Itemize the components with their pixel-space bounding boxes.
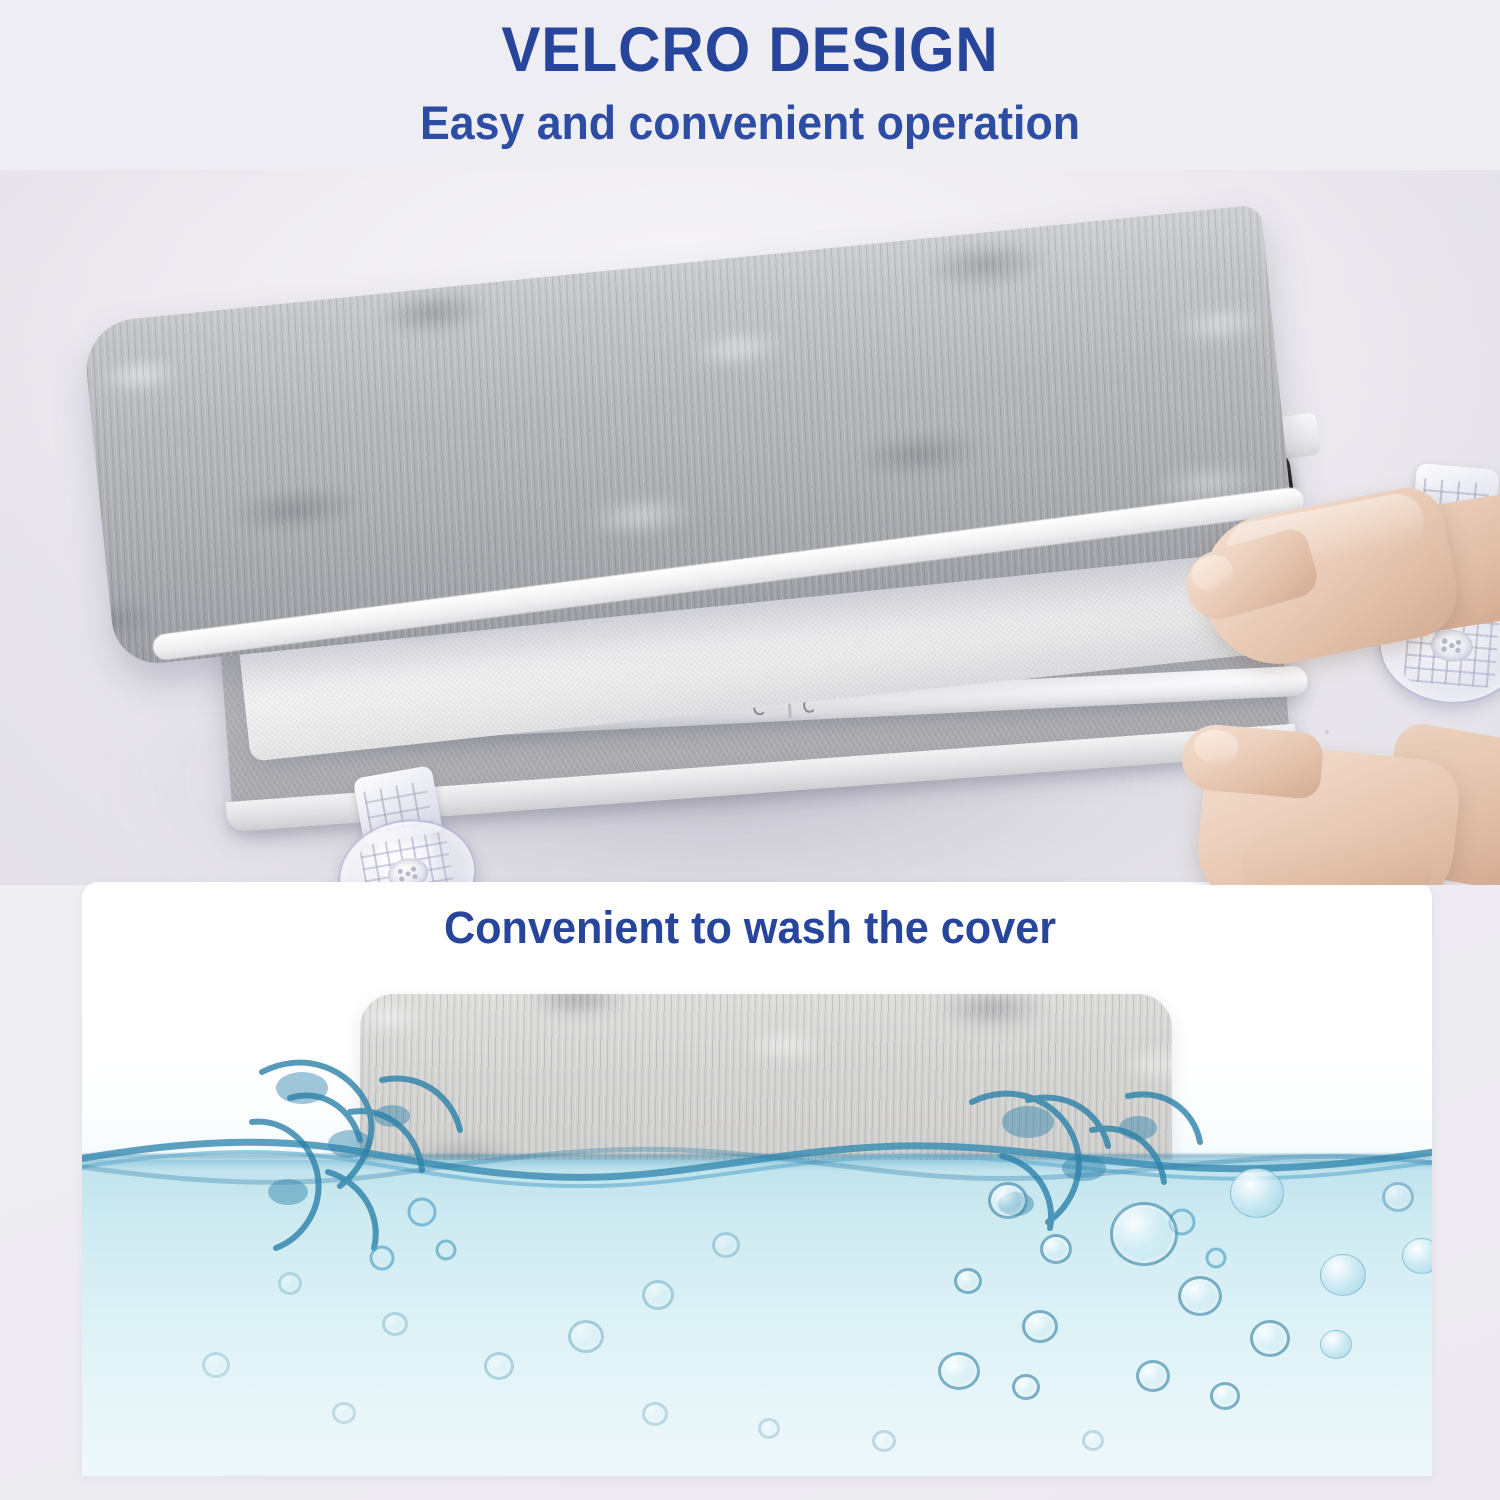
page-subtitle: Easy and convenient operation (38, 98, 1463, 147)
bubble-icon (1040, 1234, 1072, 1264)
bubble-icon (1230, 1168, 1284, 1218)
bubble-icon (1012, 1374, 1040, 1400)
bubble-icon (382, 1312, 408, 1336)
bubble-icon (1110, 1202, 1178, 1266)
suction-disc (329, 808, 485, 885)
bubble-icon (568, 1320, 604, 1353)
bubble-icon (1082, 1430, 1104, 1451)
bubble-icon (1320, 1330, 1352, 1359)
bubble-icon (642, 1280, 674, 1310)
header: VELCRO DESIGN Easy and convenient operat… (0, 18, 1500, 148)
wash-demo-photo (82, 882, 1432, 1476)
bubble-icon (202, 1352, 230, 1378)
infographic-canvas: VELCRO DESIGN Easy and convenient operat… (0, 0, 1500, 1500)
bubble-icon (712, 1232, 740, 1258)
velcro-demo-photo (0, 170, 1500, 885)
bubble-icon (758, 1418, 780, 1439)
bubble-icon (1022, 1310, 1058, 1343)
water-body (82, 1160, 1432, 1476)
bubble-icon (1250, 1320, 1290, 1357)
bubble-icon (1136, 1360, 1170, 1392)
page-title: VELCRO DESIGN (53, 18, 1448, 82)
bubble-icon (872, 1430, 896, 1452)
bubble-icon (1320, 1254, 1366, 1296)
bubble-icon (988, 1182, 1028, 1219)
bubble-icon (938, 1352, 980, 1390)
bubble-icon (1382, 1182, 1414, 1212)
bubble-icon (278, 1272, 302, 1295)
hand-lower (1190, 710, 1500, 885)
bubble-icon (954, 1268, 982, 1294)
bubble-icon (484, 1352, 514, 1380)
bubble-icon (332, 1402, 356, 1424)
bubble-icon (642, 1402, 668, 1426)
mat-assembly (73, 170, 1347, 885)
bubble-icon (1210, 1382, 1240, 1410)
bubble-icon (1178, 1276, 1222, 1316)
